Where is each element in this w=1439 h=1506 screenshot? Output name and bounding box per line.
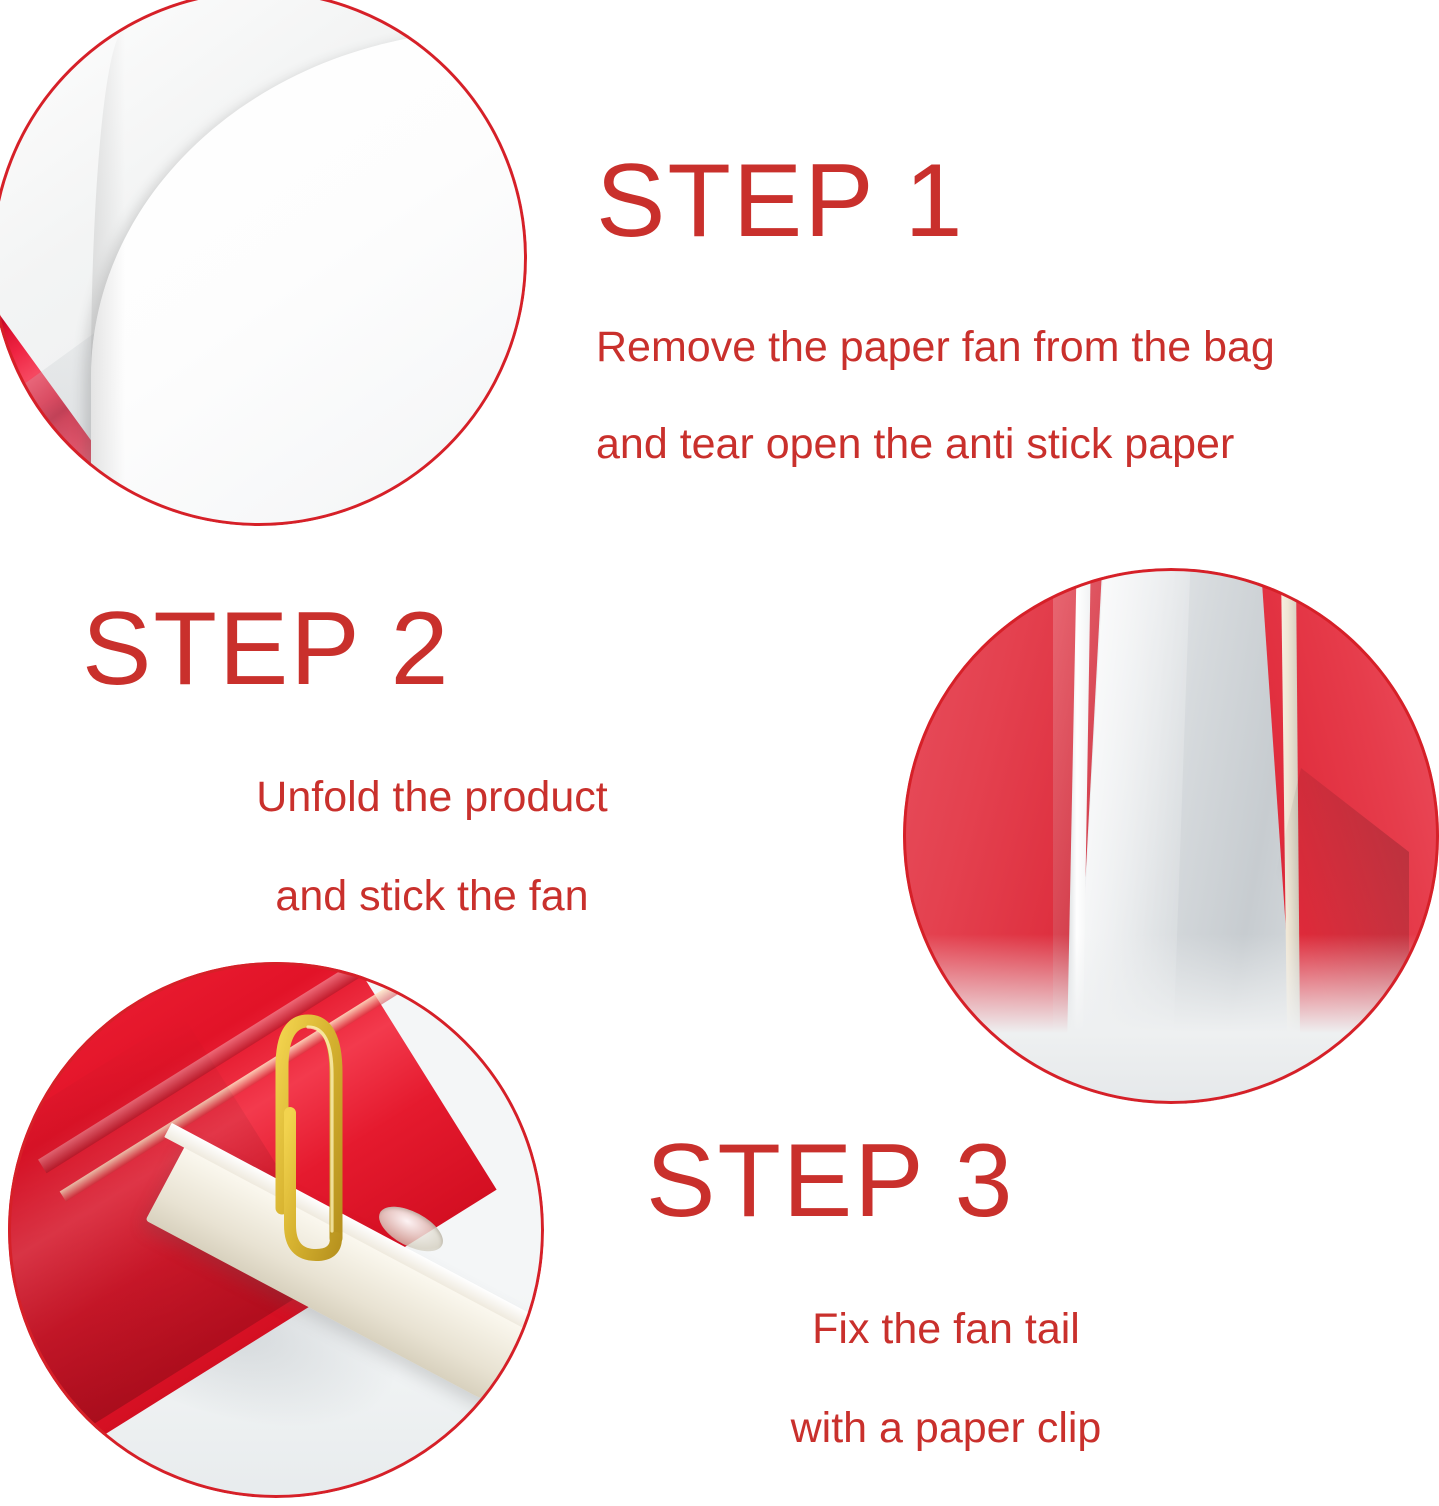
step2-scene (903, 568, 1439, 1104)
step3-scene (8, 962, 544, 1498)
instruction-sheet: STEP 1 Remove the paper fan from the bag… (0, 0, 1439, 1500)
step2-title: STEP 2 (82, 596, 782, 702)
step1-title: STEP 1 (596, 148, 1275, 254)
step2-floor (903, 934, 1439, 1104)
step3-photo (8, 962, 544, 1498)
step2-text-block: STEP 2 Unfold the product and stick the … (82, 596, 782, 974)
paper-clip-icon (266, 963, 396, 1263)
step2-line-1: Unfold the product (82, 776, 782, 819)
step1-line-2: and tear open the anti stick paper (596, 423, 1275, 466)
step3-title: STEP 3 (646, 1128, 1246, 1234)
step3-line-1: Fix the fan tail (646, 1308, 1246, 1351)
step2-photo (903, 568, 1439, 1104)
step1-line-1: Remove the paper fan from the bag (596, 326, 1275, 369)
step1-scene (0, 0, 527, 526)
step1-text-block: STEP 1 Remove the paper fan from the bag… (596, 148, 1275, 520)
step3-text-block: STEP 3 Fix the fan tail with a paper cli… (646, 1128, 1246, 1506)
paper-clip-svg (266, 963, 396, 1263)
step1-photo (0, 0, 527, 526)
step3-line-2: with a paper clip (646, 1407, 1246, 1450)
step2-line-2: and stick the fan (82, 875, 782, 918)
